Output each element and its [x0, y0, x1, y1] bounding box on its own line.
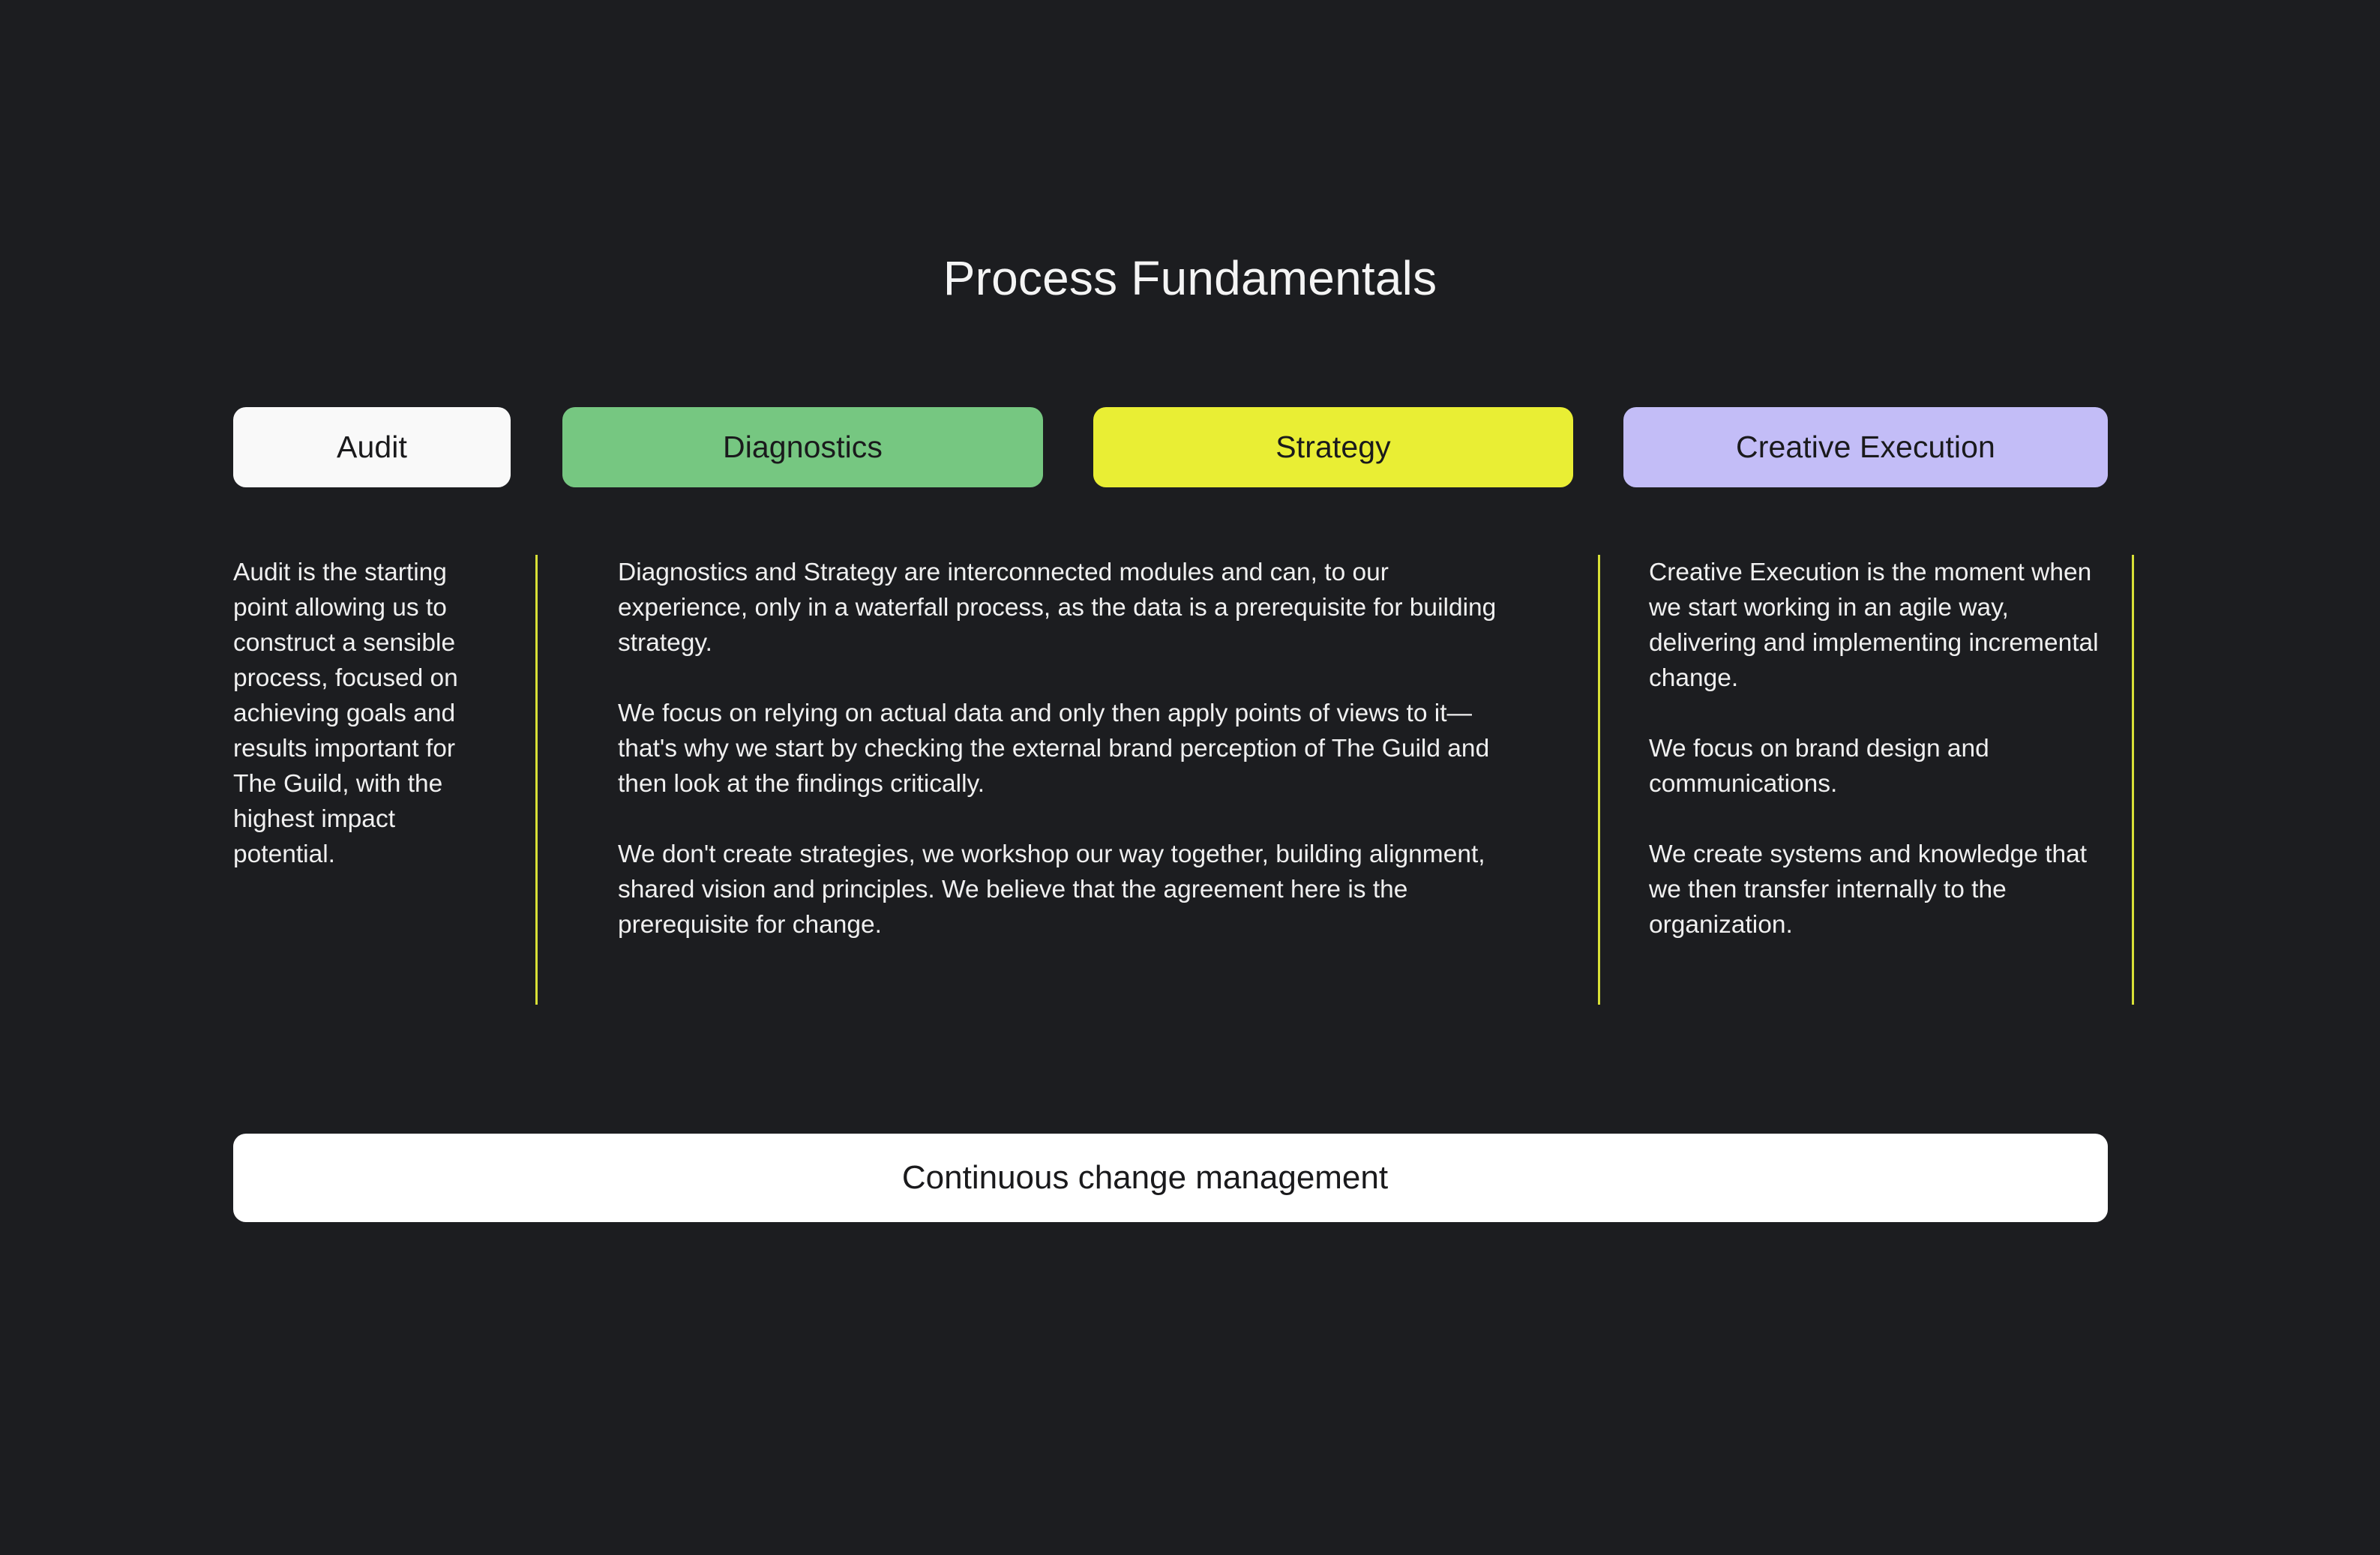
description-column-diagnostics-strategy: Diagnostics and Strategy are interconnec…	[618, 555, 1525, 942]
phase-pill-diagnostics-label: Diagnostics	[723, 430, 883, 465]
paragraph: We create systems and knowledge that we …	[1649, 837, 2099, 942]
description-column-creative-execution: Creative Execution is the moment when we…	[1649, 555, 2099, 942]
phase-pill-row: Audit Diagnostics Strategy Creative Exec…	[233, 407, 2108, 487]
description-column-audit: Audit is the starting point allowing us …	[233, 555, 481, 872]
phase-pill-diagnostics[interactable]: Diagnostics	[562, 407, 1043, 487]
continuous-change-banner-label: Continuous change management	[902, 1159, 1388, 1197]
paragraph: Audit is the starting point allowing us …	[233, 555, 481, 872]
phase-pill-audit[interactable]: Audit	[233, 407, 511, 487]
paragraph: We focus on brand design and communicati…	[1649, 731, 2099, 801]
phase-pill-audit-label: Audit	[337, 430, 407, 465]
phase-pill-strategy[interactable]: Strategy	[1093, 407, 1573, 487]
continuous-change-banner[interactable]: Continuous change management	[233, 1134, 2108, 1222]
page-title: Process Fundamentals	[0, 253, 2380, 304]
paragraph: We don't create strategies, we workshop …	[618, 837, 1525, 942]
phase-pill-creative-execution[interactable]: Creative Execution	[1623, 407, 2108, 487]
phase-pill-strategy-label: Strategy	[1275, 430, 1391, 465]
description-columns: Audit is the starting point allowing us …	[0, 555, 2380, 1020]
paragraph: We focus on relying on actual data and o…	[618, 696, 1525, 801]
paragraph: Diagnostics and Strategy are interconnec…	[618, 555, 1525, 661]
paragraph: Creative Execution is the moment when we…	[1649, 555, 2099, 696]
phase-pill-creative-execution-label: Creative Execution	[1736, 430, 1995, 465]
